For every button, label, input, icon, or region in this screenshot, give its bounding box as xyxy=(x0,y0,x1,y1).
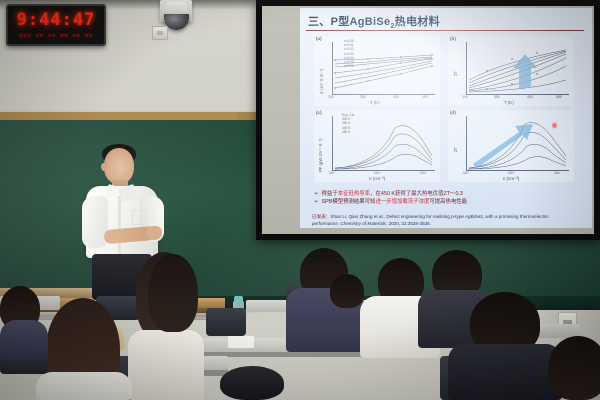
panel-b-label: (b) xyxy=(450,36,456,41)
panel-a-axes xyxy=(332,42,435,95)
laser-pointer-dot xyxy=(552,122,557,129)
panel-b-xlabel: T (K) xyxy=(504,100,514,105)
panel-d-xtick: 10¹⁷ xyxy=(463,171,469,175)
panel-b-axes xyxy=(466,42,569,95)
presenter-shirt-placket xyxy=(118,196,121,258)
bullet-2-pre: SPB模型预测结果可知 xyxy=(322,199,376,205)
bullet-1-post: ，在450 K获得了最大热电优值ZT～0.3 xyxy=(370,191,463,197)
citation-authors: Shan Li, Qian Zhang et al., xyxy=(330,214,385,219)
slide-chart-grid: (a) x=0.00 x=0.01 x=0.02 x=0.03 x=0.04 x… xyxy=(308,34,584,186)
bullet-2-post: 可提高热电性能 xyxy=(429,199,467,205)
panel-a-ylabel: σ (10⁴ S m⁻¹) xyxy=(319,69,324,94)
slide-bullet-list: ➢得益于本征低热导率，在450 K获得了最大热电优值ZT～0.3 ➢SPB模型预… xyxy=(314,190,582,206)
panel-a-xlabel: T (K) xyxy=(370,100,380,105)
panel-d-diagonal-arrow-annotation xyxy=(473,124,533,168)
panel-b-xtick: 300 xyxy=(462,95,468,99)
slide-title: 三、P型AgBiSe2热电材料 xyxy=(308,13,440,30)
presenter-ear xyxy=(101,163,107,171)
slide-title-tail: 热电材料 xyxy=(395,16,440,28)
panel-d-ylabel: ZT xyxy=(453,147,458,152)
chart-panel-c: (c) Exp. Cal. 300 K 350 K 400 K 450 K PF… xyxy=(314,110,440,182)
slide-title-main: 三、P型AgBiSe xyxy=(308,16,390,28)
panel-d-xlabel: n (cm⁻³) xyxy=(503,176,519,182)
panel-a-xtick: 400 xyxy=(393,95,399,99)
chart-panel-a: (a) x=0.00 x=0.01 x=0.02 x=0.03 x=0.04 x… xyxy=(314,36,440,106)
panel-a-plot xyxy=(333,42,435,94)
panel-c-xlabel: n (cm⁻³) xyxy=(369,176,385,182)
presenter-hand xyxy=(146,226,162,240)
panel-c-ylabel: PF (μW cm⁻¹ K⁻²) xyxy=(318,138,323,172)
audience-torso xyxy=(448,344,562,400)
chair xyxy=(206,308,246,336)
panel-d-xtick: 10¹⁹ xyxy=(508,171,514,175)
panel-c-plot xyxy=(333,116,435,170)
panel-a-xtick: 350 xyxy=(360,95,366,99)
citation-journal: Chemistry of Materials xyxy=(340,221,386,226)
classroom-photo: 9:44:47 ▪▪▪ ▪▪ ▪▪ ▪▪ ▪▪ ▪▪ 三、P型AgBiSe2热电… xyxy=(0,0,600,400)
panel-b-xtick: 450 xyxy=(556,95,562,99)
panel-c-axes xyxy=(332,116,435,171)
slide-bullet-2: ➢SPB模型预测结果可知进一步增加载流子浓度可提高热电性能 xyxy=(314,198,582,206)
wall-junction-box xyxy=(152,26,168,40)
slide-citation: 已发表：Shan Li, Qian Zhang et al., Defect e… xyxy=(312,213,574,227)
panel-b-up-arrow-annotation xyxy=(513,54,537,88)
panel-c-xtick: 10²¹ xyxy=(420,171,426,175)
digital-wall-clock: 9:44:47 ▪▪▪ ▪▪ ▪▪ ▪▪ ▪▪ ▪▪ xyxy=(6,4,106,46)
panel-a-xtick: 300 xyxy=(328,95,334,99)
bullet-marker-icon: ➢ xyxy=(314,199,319,205)
bullet-1-pre: 得益于 xyxy=(322,191,338,197)
panel-d-xtick: 10²¹ xyxy=(554,171,560,175)
audience-torso xyxy=(0,320,48,360)
panel-d-label: (d) xyxy=(450,110,456,115)
bullet-2-highlight: 进一步增加载流子浓度 xyxy=(375,199,429,205)
citation-label: 已发表： xyxy=(312,214,330,219)
panel-b-plot xyxy=(467,42,569,94)
panel-a-xtick: 450 xyxy=(422,95,428,99)
audience-hair xyxy=(220,366,284,400)
panel-c-xtick: 10¹⁹ xyxy=(374,171,380,175)
slide-title-underline xyxy=(306,30,584,31)
bullet-1-highlight: 本征低热导率 xyxy=(338,191,370,197)
panel-b-xtick: 400 xyxy=(527,95,533,99)
paper-sheet xyxy=(228,336,254,348)
presenter-head xyxy=(104,148,134,184)
panel-b-xtick: 350 xyxy=(494,95,500,99)
audience-torso xyxy=(36,372,132,400)
audience-torso xyxy=(128,330,204,400)
bullet-marker-icon: ➢ xyxy=(314,191,319,197)
audience-hair xyxy=(330,274,364,308)
clock-secondary-row: ▪▪▪ ▪▪ ▪▪ ▪▪ ▪▪ ▪▪ xyxy=(14,31,98,40)
audience-hair xyxy=(148,254,198,332)
panel-c-label: (c) xyxy=(316,110,322,115)
panel-a-label: (a) xyxy=(316,36,322,41)
water-bottle-cap xyxy=(234,296,243,302)
slide-bullet-1: ➢得益于本征低热导率，在450 K获得了最大热电优值ZT～0.3 xyxy=(314,190,582,198)
clock-time-display: 9:44:47 xyxy=(14,10,98,30)
panel-b-ylabel: ZT xyxy=(453,71,458,76)
presentation-slide: 三、P型AgBiSe2热电材料 (a) x=0.00 x=0.01 x=0.02… xyxy=(300,8,592,228)
chart-panel-b: (b) ZT xyxy=(448,36,574,106)
citation-ref: , 2020, 32:3528-3536. xyxy=(386,221,431,226)
audience-hair xyxy=(548,336,600,400)
chart-panel-d: (d) ZT 10¹⁷ 10¹⁹ 10²¹ xyxy=(448,110,574,182)
panel-c-xtick: 10¹⁷ xyxy=(329,171,335,175)
